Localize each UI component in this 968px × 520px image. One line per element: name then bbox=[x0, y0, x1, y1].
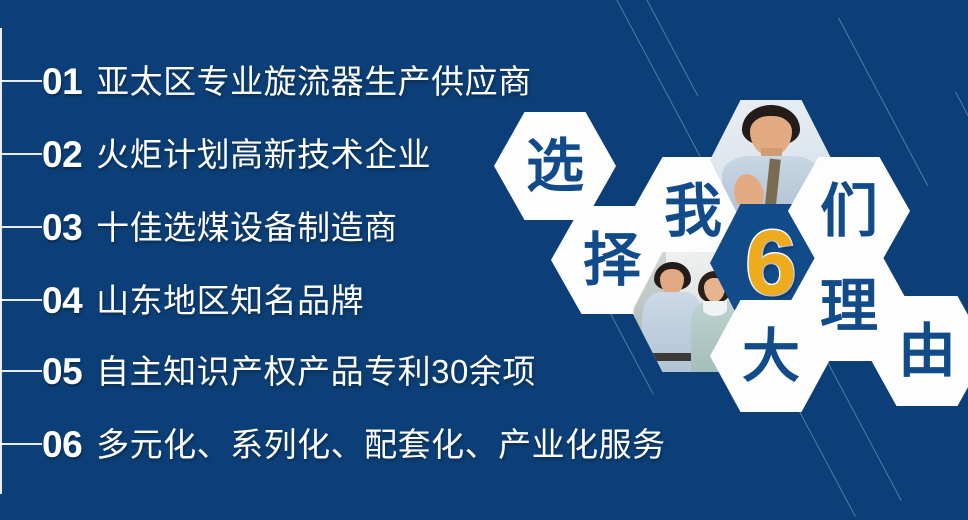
hex-label: 们 bbox=[820, 182, 878, 240]
tick-mark-5 bbox=[0, 370, 42, 372]
reason-row-2[interactable]: 02 火炬计划高新技术企业 bbox=[42, 129, 431, 179]
hex-label: 理 bbox=[820, 277, 878, 335]
tick-mark-4 bbox=[0, 299, 42, 301]
banner-canvas: 01 亚太区专业旋流器生产供应商 02 火炬计划高新技术企业 03 十佳选煤设备… bbox=[0, 0, 968, 520]
reason-text: 自主知识产权产品专利30余项 bbox=[96, 355, 536, 388]
reason-row-3[interactable]: 03 十佳选煤设备制造商 bbox=[42, 202, 398, 252]
tick-mark-2 bbox=[0, 153, 42, 155]
reason-number: 06 bbox=[42, 426, 82, 463]
left-axis-line bbox=[0, 28, 2, 494]
hex-label: 由 bbox=[898, 322, 956, 380]
tick-mark-1 bbox=[0, 80, 42, 82]
diagonal-line-1 bbox=[641, 0, 698, 96]
reason-row-5[interactable]: 05 自主知识产权产品专利30余项 bbox=[42, 346, 536, 396]
hex-xuan[interactable]: 选 bbox=[494, 112, 616, 220]
reason-row-4[interactable]: 04 山东地区知名品牌 bbox=[42, 275, 364, 325]
hex-label: 选 bbox=[526, 137, 584, 195]
hex-label: 6 bbox=[745, 217, 796, 309]
diagonal-line-7 bbox=[955, 92, 968, 207]
reason-number: 02 bbox=[42, 136, 82, 173]
reason-text: 十佳选煤设备制造商 bbox=[96, 211, 398, 244]
hex-label: 择 bbox=[583, 231, 641, 289]
reason-row-1[interactable]: 01 亚太区专业旋流器生产供应商 bbox=[42, 56, 532, 106]
reason-number: 04 bbox=[42, 282, 82, 319]
reason-row-6[interactable]: 06 多元化、系列化、配套化、产业化服务 bbox=[42, 419, 666, 469]
reason-number: 03 bbox=[42, 209, 82, 246]
tick-mark-6 bbox=[0, 443, 42, 445]
reason-text: 火炬计划高新技术企业 bbox=[96, 138, 431, 171]
reason-text: 亚太区专业旋流器生产供应商 bbox=[96, 65, 532, 98]
tick-mark-3 bbox=[0, 226, 42, 228]
reason-number: 01 bbox=[42, 63, 82, 100]
reason-number: 05 bbox=[42, 353, 82, 390]
reason-text: 山东地区知名品牌 bbox=[96, 284, 364, 317]
hex-label: 我 bbox=[664, 182, 722, 240]
hex-label: 大 bbox=[742, 327, 800, 385]
reason-text: 多元化、系列化、配套化、产业化服务 bbox=[96, 428, 666, 461]
